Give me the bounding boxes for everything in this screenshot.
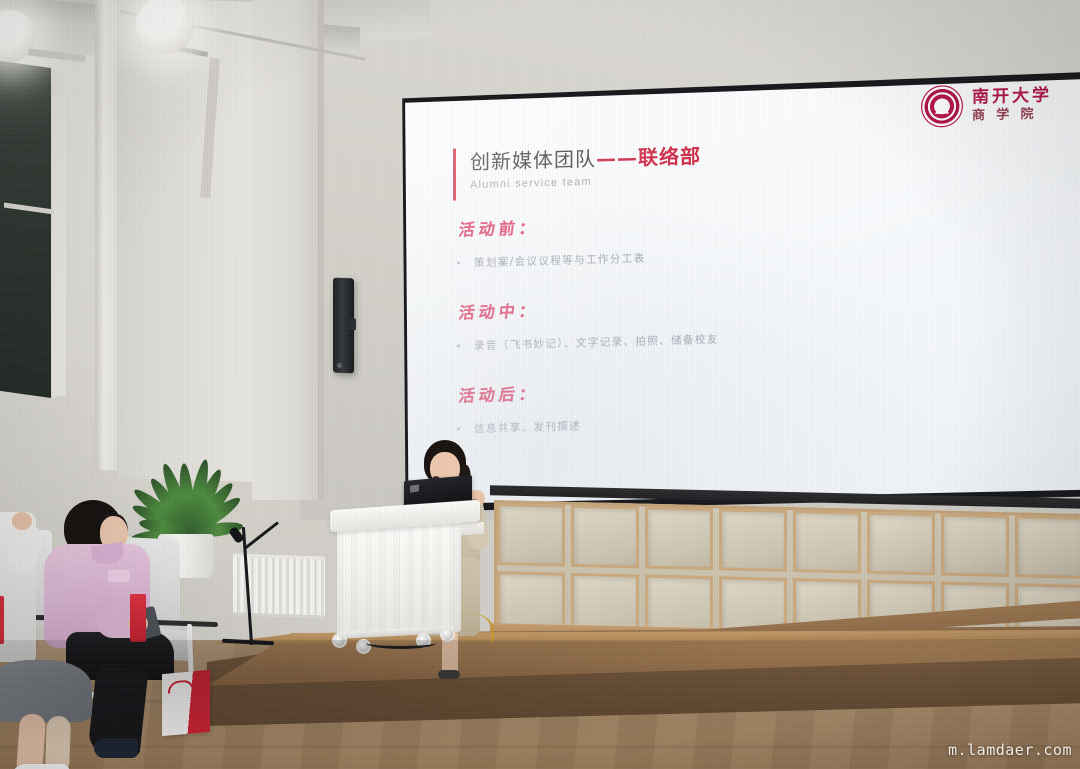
slide-subtitle: Alumni service team [470,173,701,191]
section-bullet: 信息共享、发刊撰述 [451,406,1046,437]
section-heading: 活动中： [450,297,541,323]
section-bullet: 录音（飞书妙记）、文字记录、拍照、储备校友 [451,323,1046,354]
slide-section: 活动后： 信息共享、发刊撰述 [451,367,1046,437]
shelf-cubby [1015,515,1080,579]
lectern-body [337,520,461,638]
chair-red-accent [130,594,146,642]
slide-section: 活动前： 策划案/会议议程等与工作分工表 [451,201,1046,271]
section-heading: 活动前： [450,214,541,240]
shelf-cubby [645,507,713,571]
slide-title-accent: ——联络部 [596,144,701,171]
window-dark-glass [0,60,56,399]
laptop-logo [410,484,419,493]
shelf-cubby [941,514,1009,578]
slide-section: 活动中： 录音（飞书妙记）、文字记录、拍照、储备校友 [451,284,1046,354]
site-watermark: m.lamdaer.com [948,741,1072,759]
shelf-cubby [867,512,935,576]
shelf-cubby [571,505,639,569]
shelf-cubby [497,503,565,567]
nankai-logo: 南开大学 商 学 院 [921,82,1052,128]
wall-panel-left [117,0,257,482]
shirt-pocket [108,570,130,582]
speaker-led [337,363,342,368]
floor-shadow [0,640,1080,769]
slide-title: 创新媒体团队——联络部 [470,140,701,175]
chair-red-accent [0,596,4,644]
column-near-window [95,0,117,470]
school-name: 商 学 院 [972,106,1052,122]
wall-speaker-icon [333,278,354,374]
section-bullet: 策划案/会议议程等与工作分工表 [451,240,1046,271]
slide-title-block: 创新媒体团队——联络部 Alumni service team [453,140,701,201]
shelf-cubby [793,510,861,574]
slide-title-main: 创新媒体团队 [470,147,596,174]
window-frame [52,95,66,397]
university-name: 南开大学 [972,87,1052,107]
slide-content: 南开大学 商 学 院 创新媒体团队——联络部 Alumni service te… [401,76,1080,507]
title-accent-bar [453,149,456,201]
section-heading: 活动后： [450,380,541,406]
nankai-logo-text: 南开大学 商 学 院 [972,87,1052,123]
column-center-edge [318,0,324,500]
screen-surface: 南开大学 商 学 院 创新媒体团队——联络部 Alumni service te… [401,76,1080,507]
column-center [252,0,322,500]
projection-screen: 南开大学 商 学 院 创新媒体团队——联络部 Alumni service te… [396,72,1080,512]
slide-body: 活动前： 策划案/会议议程等与工作分工表 活动中： 录音（飞书妙记）、文字记录、… [451,201,1046,466]
shelf-cubby [719,508,787,572]
nankai-seal-icon [921,85,963,128]
presentation-photo-scene: 南开大学 商 学 院 创新媒体团队——联络部 Alumni service te… [0,0,1080,769]
